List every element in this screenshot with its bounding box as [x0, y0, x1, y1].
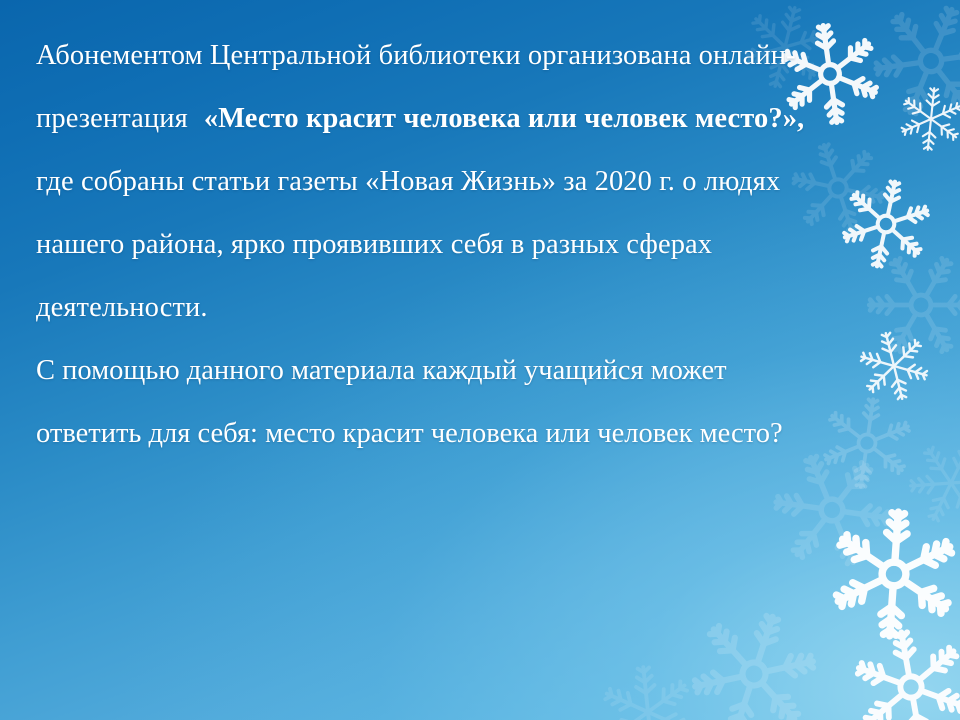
paragraph-intro-run-3: где собраны статьи газеты «Новая Жизнь» …: [36, 166, 780, 323]
snowflake-right-upper-small-icon: [895, 83, 960, 156]
paragraph-conclusion-text: С помощью данного материала каждый учащи…: [36, 355, 783, 449]
presentation-slide: Абонементом Центральной библиотеки орган…: [0, 0, 960, 720]
slide-text-body: Абонементом Центральной библиотеки орган…: [36, 24, 836, 465]
paragraph-intro-highlight: «Место красит человека или человек место…: [204, 103, 804, 134]
paragraph-conclusion: С помощью данного материала каждый учащи…: [36, 339, 836, 465]
snowflake-bottom-mid-ghost-icon: [673, 593, 834, 720]
snowflake-bottom-edge-ghost-icon: [595, 659, 701, 720]
paragraph-intro: Абонементом Центральной библиотеки орган…: [36, 24, 836, 339]
